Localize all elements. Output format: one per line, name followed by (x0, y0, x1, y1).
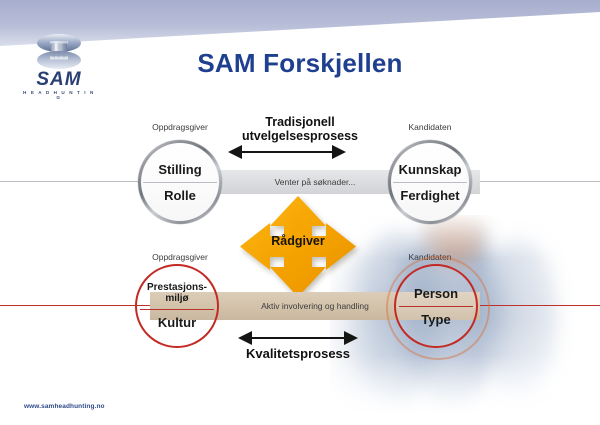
top-process-heading-line2: utvelgelsesprosess (170, 129, 430, 143)
circle-prestasjonsmiljo-kultur: Prestasjons- miljø Kultur (135, 264, 219, 348)
circle-word-top-line1: Prestasjons- (147, 282, 207, 293)
circle-word-top: Person (414, 286, 458, 301)
circle-word-bottom: Rolle (164, 188, 196, 203)
circle-word-top: Prestasjons- miljø (147, 282, 207, 304)
circle-word-top: Kunnskap (399, 162, 462, 177)
circle-word-top: Stilling (158, 162, 201, 177)
circle-word-bottom: Type (421, 312, 450, 327)
bottom-process-heading: Kvalitetsprosess (168, 347, 428, 361)
top-double-arrow-icon (228, 145, 346, 159)
circle-kunnskap-ferdighet: Kunnskap Ferdighet (388, 140, 472, 224)
circle-word-bottom: Ferdighet (400, 188, 459, 203)
logo-tagline: H E A D H U N T I N G (20, 90, 98, 100)
bottom-left-caption: Oppdragsgiver (125, 252, 235, 262)
circle-person-type: Person Type (394, 264, 478, 348)
bottom-band-label: Aktiv involvering og handling (261, 301, 369, 311)
top-band-label: Venter på søknader... (275, 177, 356, 187)
top-process-heading: Tradisjonell utvelgelsesprosess (170, 115, 430, 143)
circle-stilling-rolle: Stilling Rolle (138, 140, 222, 224)
circle-word-bottom: Kultur (158, 315, 196, 330)
circle-word-top-line2: miljø (165, 293, 188, 304)
page-title: SAM Forskjellen (0, 48, 600, 79)
footer-url[interactable]: www.samheadhunting.no (24, 403, 105, 410)
bottom-double-arrow-icon (238, 331, 358, 345)
four-way-arrow-icon: Rådgiver (240, 196, 356, 297)
center-label: Rådgiver (240, 234, 356, 248)
slide-canvas: SAM H E A D H U N T I N G SAM Forskjelle… (0, 0, 600, 425)
top-process-heading-line1: Tradisjonell (170, 115, 430, 129)
